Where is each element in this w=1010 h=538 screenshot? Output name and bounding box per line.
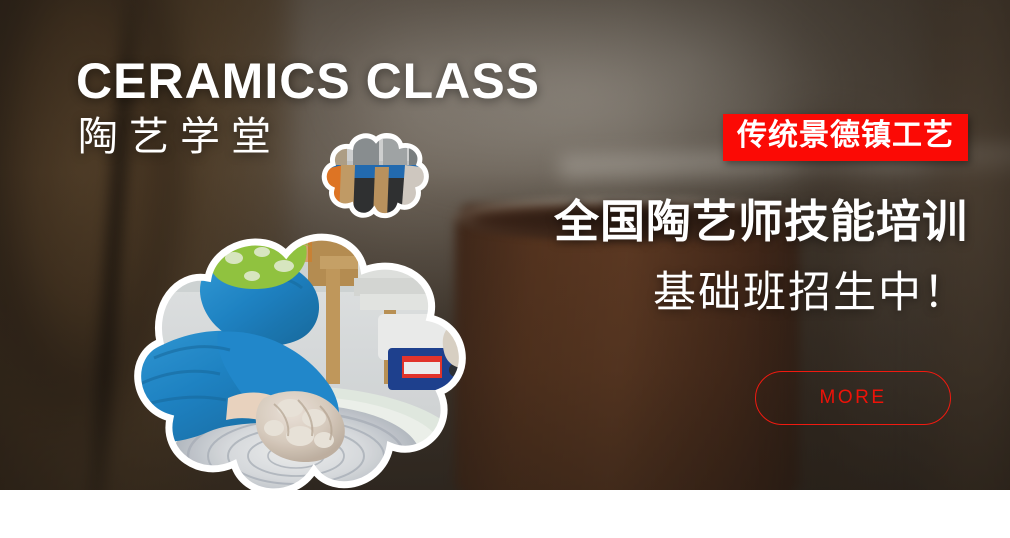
status-badge: 传统景德镇工艺 [723, 114, 968, 161]
page-title-chinese: 陶艺学堂 [78, 117, 282, 157]
ceramics-class-banner: CERAMICS CLASS 陶艺学堂 传统景德镇工艺 全国陶艺师技能培训 基础… [0, 0, 1010, 538]
pottery-tools-photo-image [313, 131, 437, 219]
headline-secondary: 基础班招生中！ [653, 269, 968, 318]
headline-primary: 全国陶艺师技能培训 [554, 196, 968, 248]
page-title-english: CERAMICS CLASS [76, 56, 540, 106]
more-button[interactable]: MORE [755, 371, 951, 425]
pottery-wheel-photo [58, 222, 530, 522]
pottery-tools-photo [313, 131, 437, 219]
